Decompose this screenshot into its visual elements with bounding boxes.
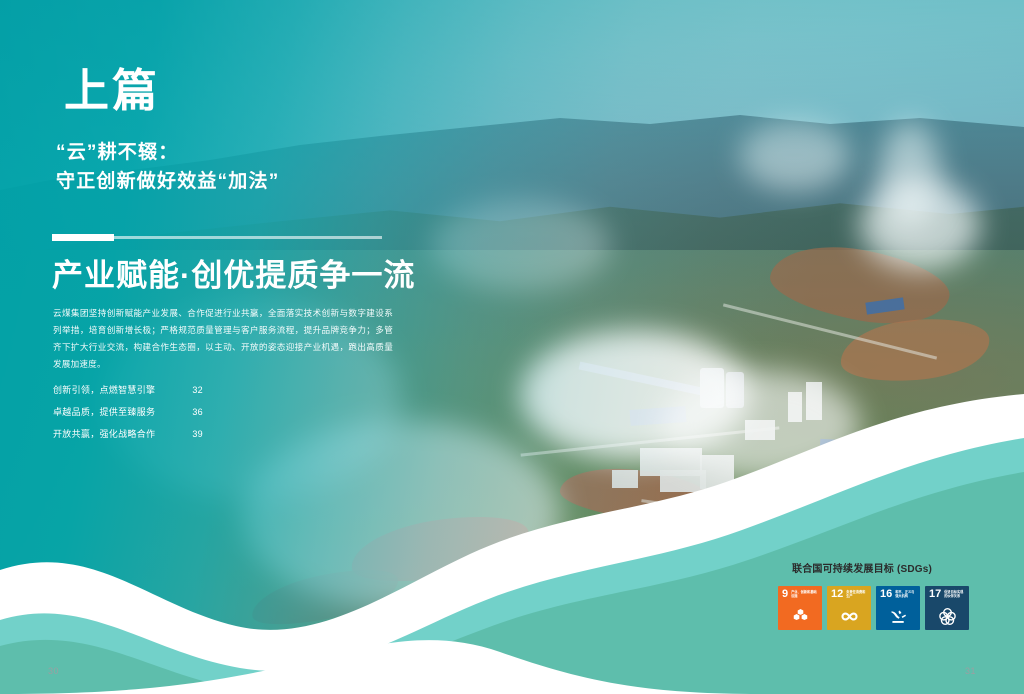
sdg-badge-row: 9 产业、创新和基础设施 12 负责任消费和生产 [778,586,978,630]
toc-item-label: 卓越品质，提供至臻服务 [53,408,155,417]
sdg-badge-header: 9 产业、创新和基础设施 [778,586,822,600]
sdg-section-title: 联合国可持续发展目标 (SDGs) [792,560,978,575]
toc-item[interactable]: 开放共赢，强化战略合作 39 [53,430,203,439]
industry-blocks-icon [778,604,822,628]
sdg-badge-header: 16 和平、正义与强大机构 [876,586,920,600]
sdg-badge-17[interactable]: 17 促进目标实现的伙伴关系 [925,586,969,630]
sdg-badge-header: 12 负责任消费和生产 [827,586,871,600]
sdg-number: 17 [929,589,941,600]
toc-item-label: 开放共赢，强化战略合作 [53,430,155,439]
sdg-name: 负责任消费和生产 [846,589,868,599]
toc-item-page: 39 [192,430,203,439]
sdg-badge-header: 17 促进目标实现的伙伴关系 [925,586,969,600]
sdg-badge-16[interactable]: 16 和平、正义与强大机构 [876,586,920,630]
table-of-contents: 创新引领，点燃智慧引擎 32 卓越品质，提供至臻服务 36 开放共赢，强化战略合… [53,386,203,452]
page-kicker: 上篇 [64,68,160,113]
sdg-section: 联合国可持续发展目标 (SDGs) 9 产业、创新和基础设施 12 [778,560,978,630]
page-subtitle: “云”耕不辍： 守正创新做好效益“加法” [56,138,526,197]
sdg-badge-9[interactable]: 9 产业、创新和基础设施 [778,586,822,630]
section-title: 产业赋能·创优提质争一流 [52,250,415,295]
toc-item[interactable]: 卓越品质，提供至臻服务 36 [53,408,203,417]
report-section-divider-page: 上篇 “云”耕不辍： 守正创新做好效益“加法” 产业赋能·创优提质争一流 云煤集… [0,0,1024,694]
sdg-name: 促进目标实现的伙伴关系 [944,589,966,599]
title-divider-rule [52,236,382,239]
sdg-number: 9 [782,589,788,600]
sdg-name: 产业、创新和基础设施 [791,589,817,599]
peace-dove-gavel-icon [876,604,920,628]
lead-paragraph: 云煤集团坚持创新赋能产业发展、合作促进行业共赢，全面落实技术创新与数字建设系列举… [53,305,393,374]
sdg-name: 和平、正义与强大机构 [895,589,917,599]
subtitle-line-2: 守正创新做好效益“加法” [56,167,526,196]
partnership-rings-icon [925,604,969,628]
toc-item-page: 32 [192,386,203,395]
page-number-left: 30 [48,666,59,676]
toc-item-page: 36 [192,408,203,417]
sdg-number: 16 [880,589,892,600]
sdg-badge-12[interactable]: 12 负责任消费和生产 [827,586,871,630]
page-number-right: 31 [965,666,976,676]
sdg-number: 12 [831,589,843,600]
infinity-loop-icon [827,604,871,628]
toc-item-label: 创新引领，点燃智慧引擎 [53,386,155,395]
toc-item[interactable]: 创新引领，点燃智慧引擎 32 [53,386,203,395]
subtitle-line-1: “云”耕不辍： [56,138,526,167]
